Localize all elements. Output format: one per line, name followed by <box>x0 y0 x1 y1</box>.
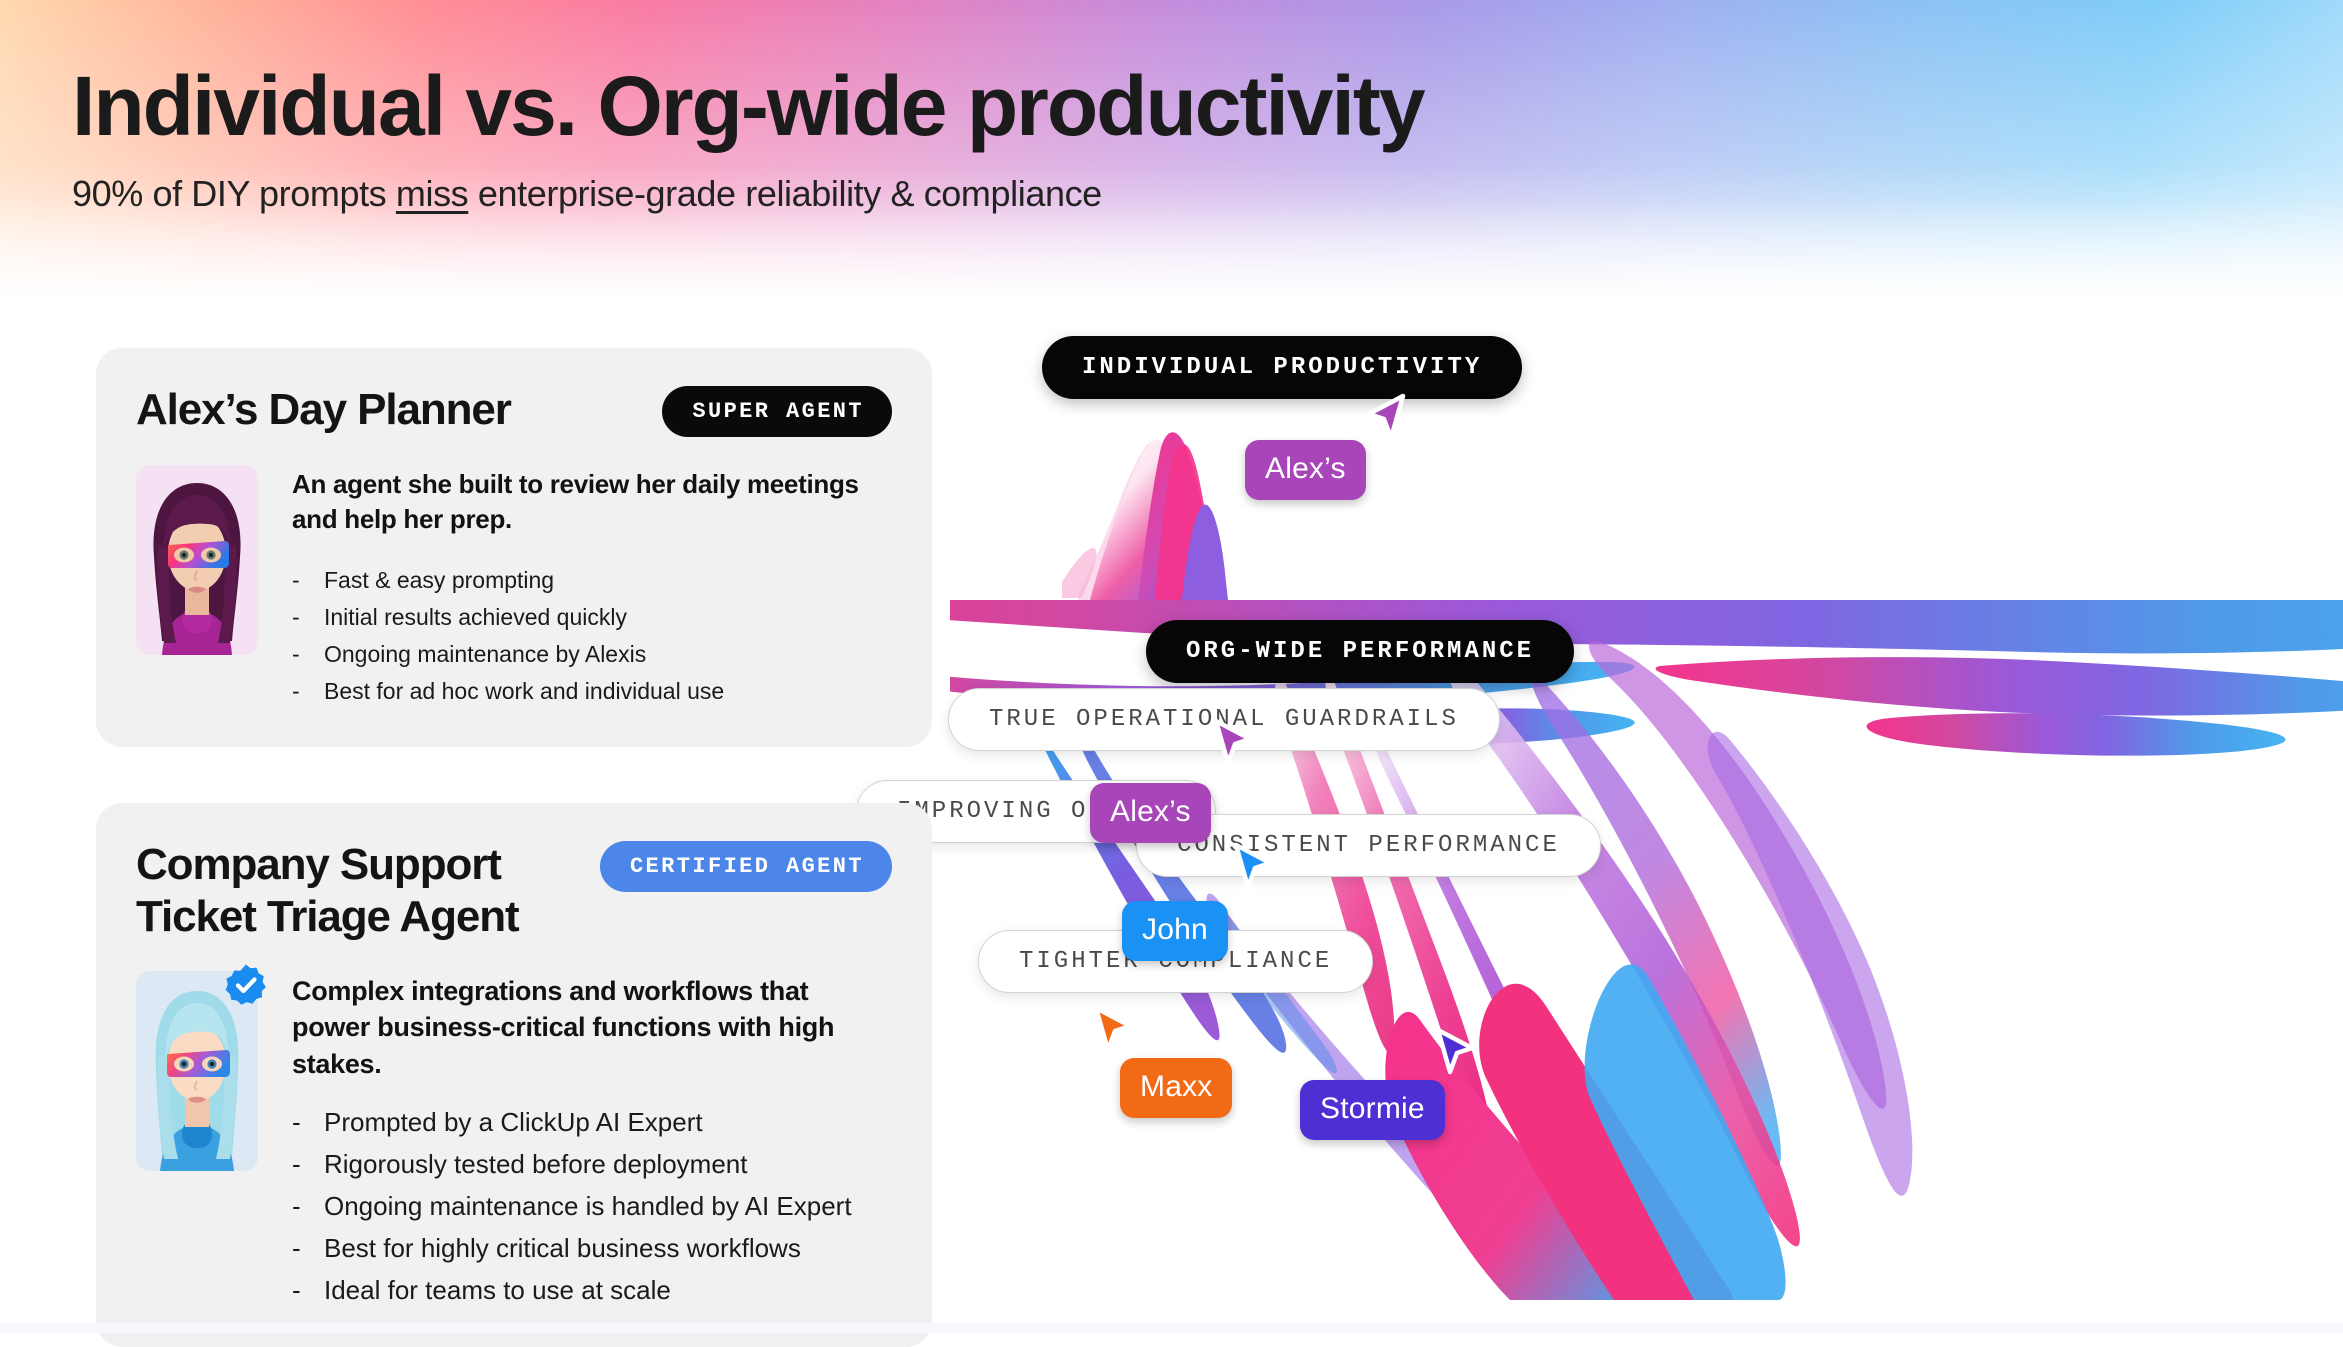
cursor-arrow-icon <box>1230 841 1276 895</box>
page-subtitle-emphasis: miss <box>396 173 468 214</box>
cursor-arrow-icon <box>1432 1026 1478 1080</box>
cursor-label: Maxx <box>1120 1058 1232 1118</box>
bullet-dash-icon: - <box>292 636 304 673</box>
card-description: Complex integrations and workflows that … <box>292 973 892 1083</box>
list-item: -Initial results achieved quickly <box>292 599 872 636</box>
alex-avatar-illustration <box>136 465 258 655</box>
bullet-text: Ideal for teams to use at scale <box>324 1269 671 1311</box>
list-item: -Ongoing maintenance is handled by AI Ex… <box>292 1185 892 1227</box>
bullet-dash-icon: - <box>292 1185 304 1227</box>
bullet-dash-icon: - <box>292 1143 304 1185</box>
bullet-text: Ongoing maintenance is handled by AI Exp… <box>324 1185 852 1227</box>
card-bullet-list: -Fast & easy prompting -Initial results … <box>292 562 872 711</box>
card-bullet-list: -Prompted by a ClickUp AI Expert -Rigoro… <box>292 1101 892 1312</box>
bullet-dash-icon: - <box>292 599 304 636</box>
avatar-wrap <box>136 465 258 711</box>
card-text: An agent she built to review her daily m… <box>292 465 872 711</box>
list-item: -Fast & easy prompting <box>292 562 872 599</box>
card-description: An agent she built to review her daily m… <box>292 467 872 538</box>
cursor-arrow-icon <box>1363 392 1409 446</box>
list-item: -Rigorously tested before deployment <box>292 1143 892 1185</box>
cursor-label: Alex’s <box>1090 783 1211 843</box>
bullet-dash-icon: - <box>292 1269 304 1311</box>
cursor-arrow-icon <box>1210 717 1256 771</box>
list-item: -Ongoing maintenance by Alexis <box>292 636 872 673</box>
alex-avatar <box>136 465 258 655</box>
bullet-text: Best for highly critical business workfl… <box>324 1227 801 1269</box>
cursor-label: Stormie <box>1300 1080 1445 1140</box>
page-subtitle-before: 90% of DIY prompts <box>72 173 396 214</box>
card-body: Complex integrations and workflows that … <box>136 971 892 1312</box>
page-header: Individual vs. Org-wide productivity 90%… <box>72 62 1424 215</box>
agent-card-certified-agent[interactable]: Company Support Ticket Triage Agent CERT… <box>96 803 932 1347</box>
avatar-wrap <box>136 971 258 1312</box>
list-item: -Ideal for teams to use at scale <box>292 1269 892 1311</box>
status-badge-certified-agent: CERTIFIED AGENT <box>600 841 892 892</box>
bullet-text: Ongoing maintenance by Alexis <box>324 636 646 673</box>
status-badge-super-agent: SUPER AGENT <box>662 386 892 437</box>
bullet-text: Rigorously tested before deployment <box>324 1143 747 1185</box>
agent-cards-column: Alex’s Day Planner SUPER AGENT <box>96 348 932 1347</box>
list-item: -Best for ad hoc work and individual use <box>292 673 872 710</box>
bullet-dash-icon: - <box>292 1101 304 1143</box>
bullet-text: Fast & easy prompting <box>324 562 554 599</box>
card-header: Company Support Ticket Triage Agent CERT… <box>136 835 892 943</box>
iceberg-tip-above-water <box>1062 432 1228 600</box>
verified-check-icon <box>224 963 268 1007</box>
label-individual-productivity: INDIVIDUAL PRODUCTIVITY <box>1042 336 1522 399</box>
bullet-dash-icon: - <box>292 673 304 710</box>
card-body: An agent she built to review her daily m… <box>136 465 892 711</box>
bullet-dash-icon: - <box>292 1227 304 1269</box>
card-title: Alex’s Day Planner <box>136 380 511 436</box>
list-item: -Best for highly critical business workf… <box>292 1227 892 1269</box>
card-text: Complex integrations and workflows that … <box>292 971 892 1312</box>
agent-card-super-agent[interactable]: Alex’s Day Planner SUPER AGENT <box>96 348 932 747</box>
page-title: Individual vs. Org-wide productivity <box>72 62 1424 151</box>
bullet-text: Prompted by a ClickUp AI Expert <box>324 1101 703 1143</box>
page-subtitle: 90% of DIY prompts miss enterprise-grade… <box>72 173 1424 215</box>
bottom-edge-strip <box>0 1323 2343 1333</box>
bullet-text: Initial results achieved quickly <box>324 599 627 636</box>
cursor-label: Alex’s <box>1245 440 1366 500</box>
bullet-dash-icon: - <box>292 562 304 599</box>
card-title: Company Support Ticket Triage Agent <box>136 835 580 943</box>
list-item: -Prompted by a ClickUp AI Expert <box>292 1101 892 1143</box>
bullet-text: Best for ad hoc work and individual use <box>324 673 724 710</box>
label-org-wide-performance: ORG-WIDE PERFORMANCE <box>1146 620 1574 683</box>
page-subtitle-after: enterprise-grade reliability & complianc… <box>468 173 1102 214</box>
cursor-label: John <box>1122 901 1228 961</box>
cursor-arrow-icon <box>1090 1004 1136 1058</box>
card-header: Alex’s Day Planner SUPER AGENT <box>136 380 892 437</box>
